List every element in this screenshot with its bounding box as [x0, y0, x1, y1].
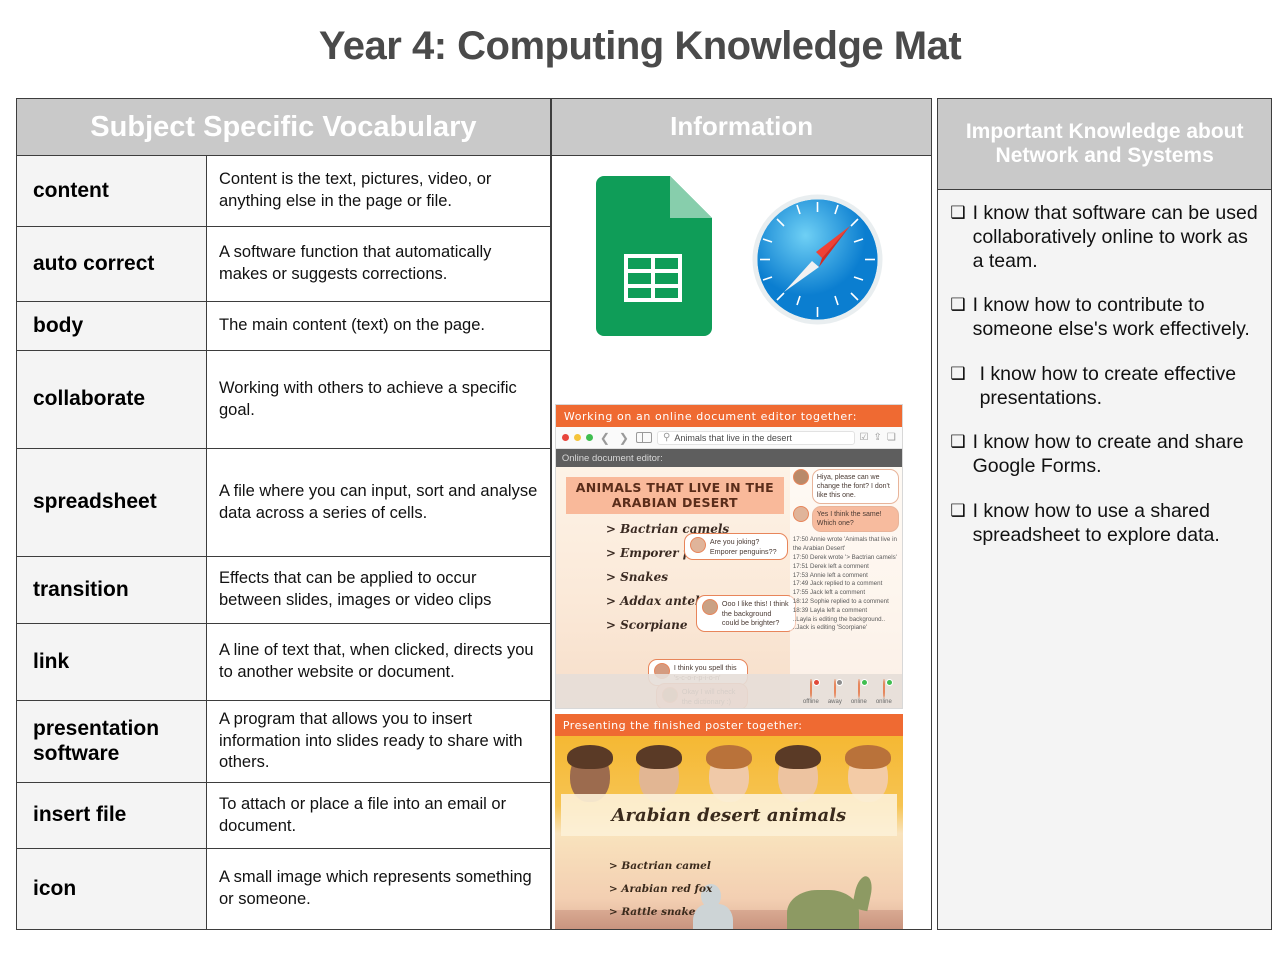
back-icon[interactable]: ❮: [598, 431, 612, 445]
poster-canvas: Arabian desert animals Bactrian camel Ar…: [555, 736, 903, 930]
information-column: Information: [551, 98, 932, 930]
knowledge-text: I know how to contribute to someone else…: [973, 294, 1261, 342]
list-item: Snakes: [606, 570, 792, 584]
knowledge-item: ❑ I know how to create effective present…: [950, 363, 1261, 411]
doc-editor-caption: Working on an online document editor tog…: [556, 405, 902, 427]
address-bar-text: Animals that live in the desert: [674, 433, 792, 443]
information-header: Information: [551, 98, 932, 156]
vocab-term: icon: [17, 849, 207, 929]
table-row: transition Effects that can be applied t…: [17, 557, 550, 624]
presence-label: online: [851, 699, 867, 705]
log-entry: 17:53 Annie left a comment: [793, 572, 899, 581]
vocabulary-table: content Content is the text, pictures, v…: [16, 156, 551, 930]
knowledge-mat-page: Year 4: Computing Knowledge Mat Subject …: [0, 0, 1280, 960]
comment-text: Yes I think the same! Which one?: [812, 506, 899, 532]
vocabulary-header: Subject Specific Vocabulary: [16, 98, 551, 156]
vocab-definition: A small image which represents something…: [207, 849, 550, 929]
log-entry: 17:55 Jack left a comment: [793, 589, 899, 598]
vocab-term: content: [17, 156, 207, 226]
minimize-window-icon[interactable]: [574, 434, 581, 441]
doc-editor-bar-label: Online document editor:: [556, 449, 902, 467]
log-entry: ..Jack is editing 'Scorpiane': [793, 624, 899, 633]
comments-sidebar: Hiya, please can we change the font? I d…: [790, 467, 902, 709]
knowledge-item: ❑ I know how to contribute to someone el…: [950, 294, 1261, 342]
knowledge-list: ❑ I know that software can be used colla…: [937, 190, 1272, 930]
table-row: presentation software A program that all…: [17, 701, 550, 783]
log-entry: 17:50 Derek wrote '> Bactrian camels': [793, 554, 899, 563]
camel-illustration: [787, 890, 859, 930]
status-badge: [886, 679, 893, 686]
log-entry: 17:49 Jack replied to a comment: [793, 580, 899, 589]
avatar: [690, 537, 706, 553]
table-row: icon A small image which represents some…: [17, 849, 550, 929]
table-row: body The main content (text) on the page…: [17, 302, 550, 351]
search-icon: ⚲: [663, 432, 670, 443]
knowledge-text: I know how to create and share Google Fo…: [973, 431, 1261, 479]
safari-browser-icon: [750, 192, 885, 327]
list-item: Addax antelope: [609, 929, 712, 930]
vocab-term: link: [17, 624, 207, 700]
log-entry: 18:39 Layla left a comment: [793, 607, 899, 616]
sidebar-icon[interactable]: [636, 432, 652, 443]
list-item: Rattle snake: [609, 906, 712, 918]
knowledge-text: I know how to use a shared spreadsheet t…: [973, 500, 1261, 548]
new-tab-icon[interactable]: ❏: [887, 432, 896, 443]
presence-user: online: [851, 680, 867, 705]
shield-icon[interactable]: ☑: [860, 432, 869, 443]
share-icon[interactable]: ⇪: [874, 432, 882, 443]
vocab-definition: A file where you can input, sort and ana…: [207, 449, 550, 556]
comment-bubble: Hiya, please can we change the font? I d…: [793, 469, 899, 506]
knowledge-mat-table: Subject Specific Vocabulary content Cont…: [16, 98, 1272, 930]
information-body: Working on an online document editor tog…: [551, 156, 932, 930]
forward-icon[interactable]: ❯: [617, 431, 631, 445]
comment-text: Are you joking? Emporer penguins??: [710, 537, 782, 556]
doc-editor-canvas: ANIMALS THAT LIVE IN THE ARABIAN DESERT …: [556, 467, 902, 709]
table-row: spreadsheet A file where you can input, …: [17, 449, 550, 557]
comment-text: Hiya, please can we change the font? I d…: [812, 469, 899, 504]
comment-text: Ooo I like this! I think the background …: [722, 599, 790, 628]
status-badge: [813, 679, 820, 686]
avatar: [858, 679, 860, 698]
presence-user: away: [828, 680, 842, 705]
vocab-term: auto correct: [17, 227, 207, 301]
avatar: [702, 599, 718, 615]
log-entry: 18:12 Sophie replied to a comment: [793, 598, 899, 607]
vocab-term: body: [17, 302, 207, 350]
doc-title: ANIMALS THAT LIVE IN THE ARABIAN DESERT: [566, 477, 784, 514]
close-window-icon[interactable]: [562, 434, 569, 441]
comment-bubble: Yes I think the same! Which one?: [793, 506, 899, 534]
log-entry: 17:51 Derek left a comment: [793, 563, 899, 572]
knowledge-item: ❑ I know how to create and share Google …: [950, 431, 1261, 479]
checkbox-icon[interactable]: ❑: [950, 294, 965, 315]
knowledge-item: ❑ I know that software can be used colla…: [950, 202, 1261, 273]
checkbox-icon[interactable]: ❑: [950, 363, 965, 384]
vocab-term: insert file: [17, 783, 207, 848]
avatar: [810, 679, 812, 698]
knowledge-text: I know that software can be used collabo…: [973, 202, 1261, 273]
vocab-definition: Effects that can be applied to occur bet…: [207, 557, 550, 623]
vocab-definition: Content is the text, pictures, video, or…: [207, 156, 550, 226]
page-title: Year 4: Computing Knowledge Mat: [0, 24, 1280, 69]
poster-animal-list: Bactrian camel Arabian red fox Rattle sn…: [569, 860, 712, 930]
status-badge: [861, 679, 868, 686]
comment-bubble: Are you joking? Emporer penguins??: [684, 533, 788, 560]
google-sheets-icon: [594, 176, 712, 336]
knowledge-column: Important Knowledge about Network and Sy…: [937, 98, 1272, 930]
log-entry: 17:50 Annie wrote 'Animals that live in …: [793, 536, 899, 554]
poster-title: Arabian desert animals: [612, 805, 847, 826]
online-document-editor-image: Working on an online document editor tog…: [555, 404, 903, 709]
poster-caption: Presenting the finished poster together:: [555, 714, 903, 736]
table-row: insert file To attach or place a file in…: [17, 783, 550, 849]
maximize-window-icon[interactable]: [586, 434, 593, 441]
vocabulary-column: Subject Specific Vocabulary content Cont…: [16, 98, 551, 930]
table-row: link A line of text that, when clicked, …: [17, 624, 550, 701]
presence-bar: offline away online: [556, 674, 902, 709]
vocab-definition: A software function that automatically m…: [207, 227, 550, 301]
avatar: [883, 679, 885, 698]
comment-bubble: Ooo I like this! I think the background …: [696, 595, 796, 632]
presence-user: offline: [803, 680, 819, 705]
vocab-definition: To attach or place a file into an email …: [207, 783, 550, 848]
knowledge-text: I know how to create effective presentat…: [973, 363, 1261, 411]
knowledge-item: ❑ I know how to use a shared spreadsheet…: [950, 500, 1261, 548]
checkbox-icon[interactable]: ❑: [950, 431, 965, 452]
vocab-term: spreadsheet: [17, 449, 207, 556]
presence-label: away: [828, 699, 842, 705]
table-row: content Content is the text, pictures, v…: [17, 156, 550, 227]
address-bar[interactable]: ⚲ Animals that live in the desert: [657, 431, 855, 445]
app-icons-row: [552, 164, 931, 346]
table-row: auto correct A software function that au…: [17, 227, 550, 302]
list-item: Bactrian camel: [609, 860, 712, 872]
log-entry: ..Layla is editing the background..: [793, 616, 899, 625]
browser-toolbar: ❮ ❯ ⚲ Animals that live in the desert ☑ …: [556, 427, 902, 449]
poster-title-banner: Arabian desert animals: [561, 794, 897, 836]
vocab-definition: Working with others to achieve a specifi…: [207, 351, 550, 448]
children-photos: [555, 740, 903, 802]
knowledge-header: Important Knowledge about Network and Sy…: [937, 98, 1272, 190]
table-row: collaborate Working with others to achie…: [17, 351, 550, 449]
vocab-definition: A program that allows you to insert info…: [207, 701, 550, 782]
checkbox-icon[interactable]: ❑: [950, 202, 965, 223]
activity-log: 17:50 Annie wrote 'Animals that live in …: [793, 536, 899, 633]
vocab-term: presentation software: [17, 701, 207, 782]
status-badge: [836, 679, 843, 686]
presence-label: offline: [803, 699, 819, 705]
list-item: Arabian red fox: [609, 883, 712, 895]
vocab-term: collaborate: [17, 351, 207, 448]
presence-label: online: [876, 699, 892, 705]
checkbox-icon[interactable]: ❑: [950, 500, 965, 521]
finished-poster-image: Presenting the finished poster together:…: [555, 714, 903, 930]
avatar: [793, 469, 809, 485]
presence-user: online: [876, 680, 892, 705]
vocab-definition: The main content (text) on the page.: [207, 302, 550, 350]
vocab-term: transition: [17, 557, 207, 623]
avatar: [793, 506, 809, 522]
vocab-definition: A line of text that, when clicked, direc…: [207, 624, 550, 700]
